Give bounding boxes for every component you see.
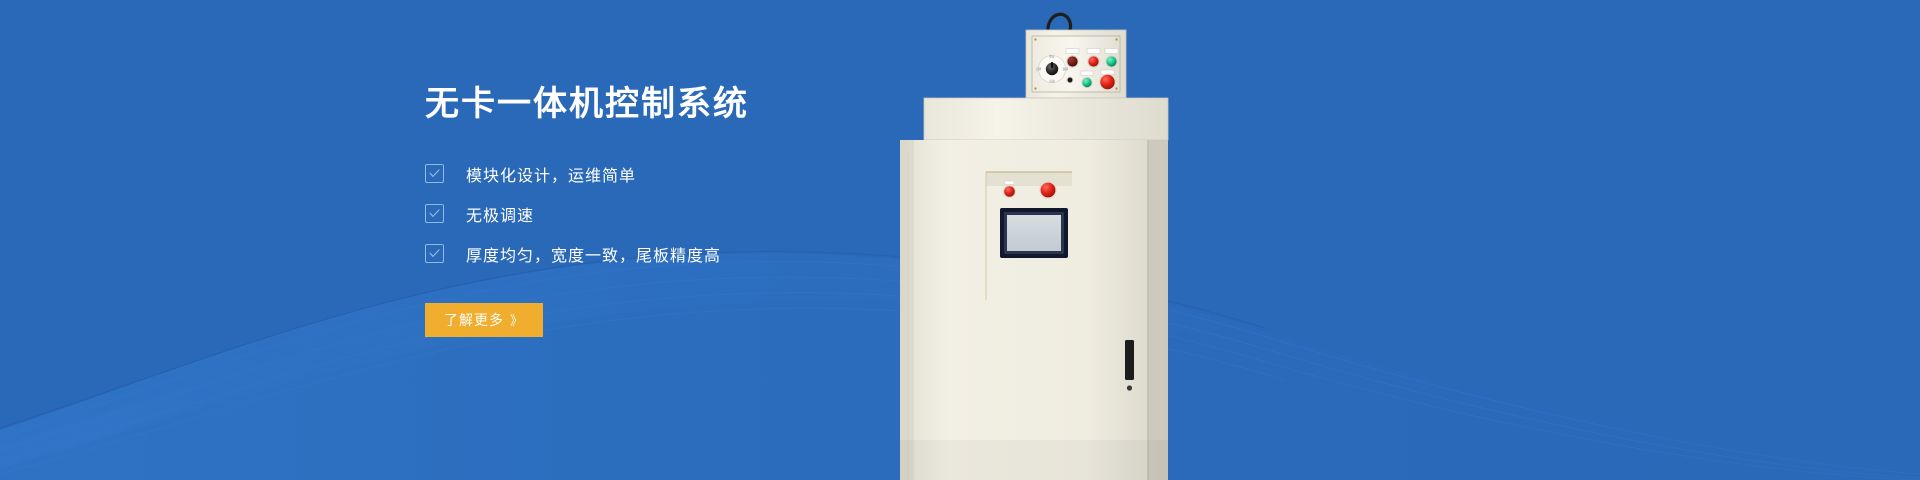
small-black-button[interactable] [1067,77,1074,84]
check-square-icon [425,244,444,263]
svg-text:停止: 停止 [1049,55,1055,59]
svg-text:正转: 正转 [1036,67,1042,71]
check-square-icon [425,204,444,223]
feature-label: 无极调速 [466,202,534,226]
cabinet-side-edge [1148,140,1168,480]
learn-more-label: 了解更多 [444,310,504,330]
cabinet-body [900,140,1168,480]
cabinet-top-cap [924,98,1168,140]
indicator-light-2 [1087,49,1100,68]
chevron-right-icon: 》 [510,310,524,329]
door-handle[interactable] [1125,340,1134,380]
hmi-touchscreen[interactable] [1000,208,1068,258]
svg-text:反转: 反转 [1063,67,1069,71]
door-button-1[interactable] [1003,181,1016,198]
control-panel-box: 停止 正转 反转 点动 [1026,30,1126,98]
hero-banner: 无卡一体机控制系统 模块化设计，运维简单 无极调速 [0,0,1920,480]
indicator-light-1 [1066,49,1079,68]
door-lock-icon[interactable] [1127,385,1132,390]
emergency-stop-button[interactable] [1099,70,1115,90]
learn-more-button[interactable]: 了解更多 》 [425,303,543,337]
green-start-button[interactable] [1081,71,1093,88]
feature-label: 模块化设计，运维简单 [466,162,636,186]
product-photo: 停止 正转 反转 点动 [900,0,1220,480]
indicator-light-3 [1105,49,1118,68]
svg-text:点动: 点动 [1049,79,1055,83]
feature-label: 厚度均匀，宽度一致，尾板精度高 [466,242,721,266]
check-square-icon [425,164,444,183]
door-button-2[interactable] [1039,181,1056,198]
